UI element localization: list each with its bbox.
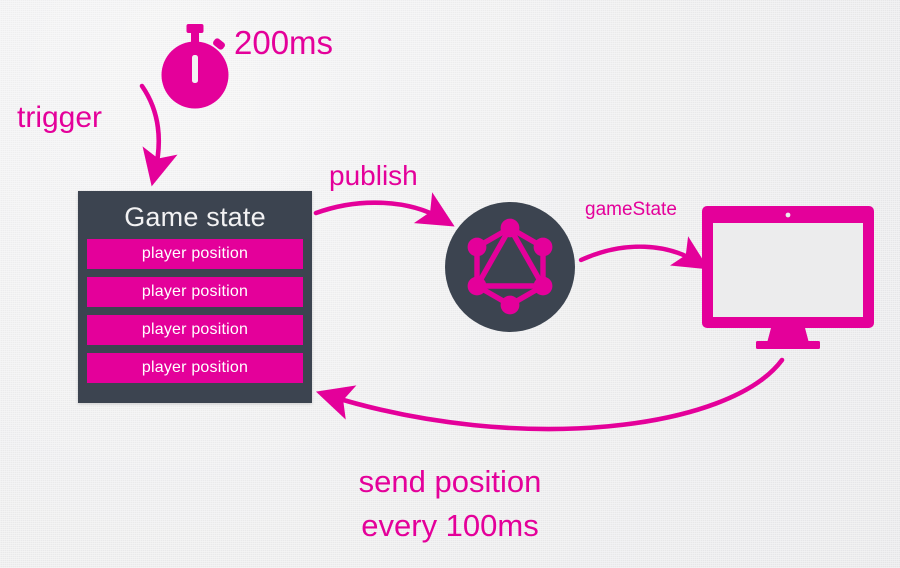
arrow-publish <box>316 203 442 219</box>
stopwatch-icon <box>158 22 238 112</box>
player-position-label: player position <box>142 359 248 377</box>
list-item[interactable]: player position <box>87 315 303 345</box>
send-position-line2: every 100ms <box>0 504 900 548</box>
list-item[interactable]: player position <box>87 277 303 307</box>
player-position-list: player position player position player p… <box>87 239 303 394</box>
player-position-label: player position <box>142 283 248 301</box>
edge-label-gamestate: gameState <box>585 199 677 221</box>
list-item[interactable]: player position <box>87 239 303 269</box>
arrow-gamestate <box>581 247 697 262</box>
game-state-title: Game state <box>87 197 303 239</box>
player-position-label: player position <box>142 321 248 339</box>
send-position-line1: send position <box>0 460 900 504</box>
player-position-label: player position <box>142 245 248 263</box>
edge-label-trigger: trigger <box>17 101 102 136</box>
game-state-box[interactable]: Game state player position player positi… <box>78 191 312 403</box>
diagram-canvas: 200ms trigger Game state player position… <box>0 0 900 568</box>
arrow-send-position <box>330 360 782 429</box>
edge-label-publish: publish <box>329 160 418 192</box>
arrow-trigger <box>142 86 159 172</box>
monitor-icon[interactable] <box>700 204 876 350</box>
graphql-icon[interactable] <box>445 202 575 332</box>
list-item[interactable]: player position <box>87 353 303 383</box>
timer-interval-label: 200ms <box>234 24 333 62</box>
edge-label-send-position: send position every 100ms <box>0 460 900 548</box>
